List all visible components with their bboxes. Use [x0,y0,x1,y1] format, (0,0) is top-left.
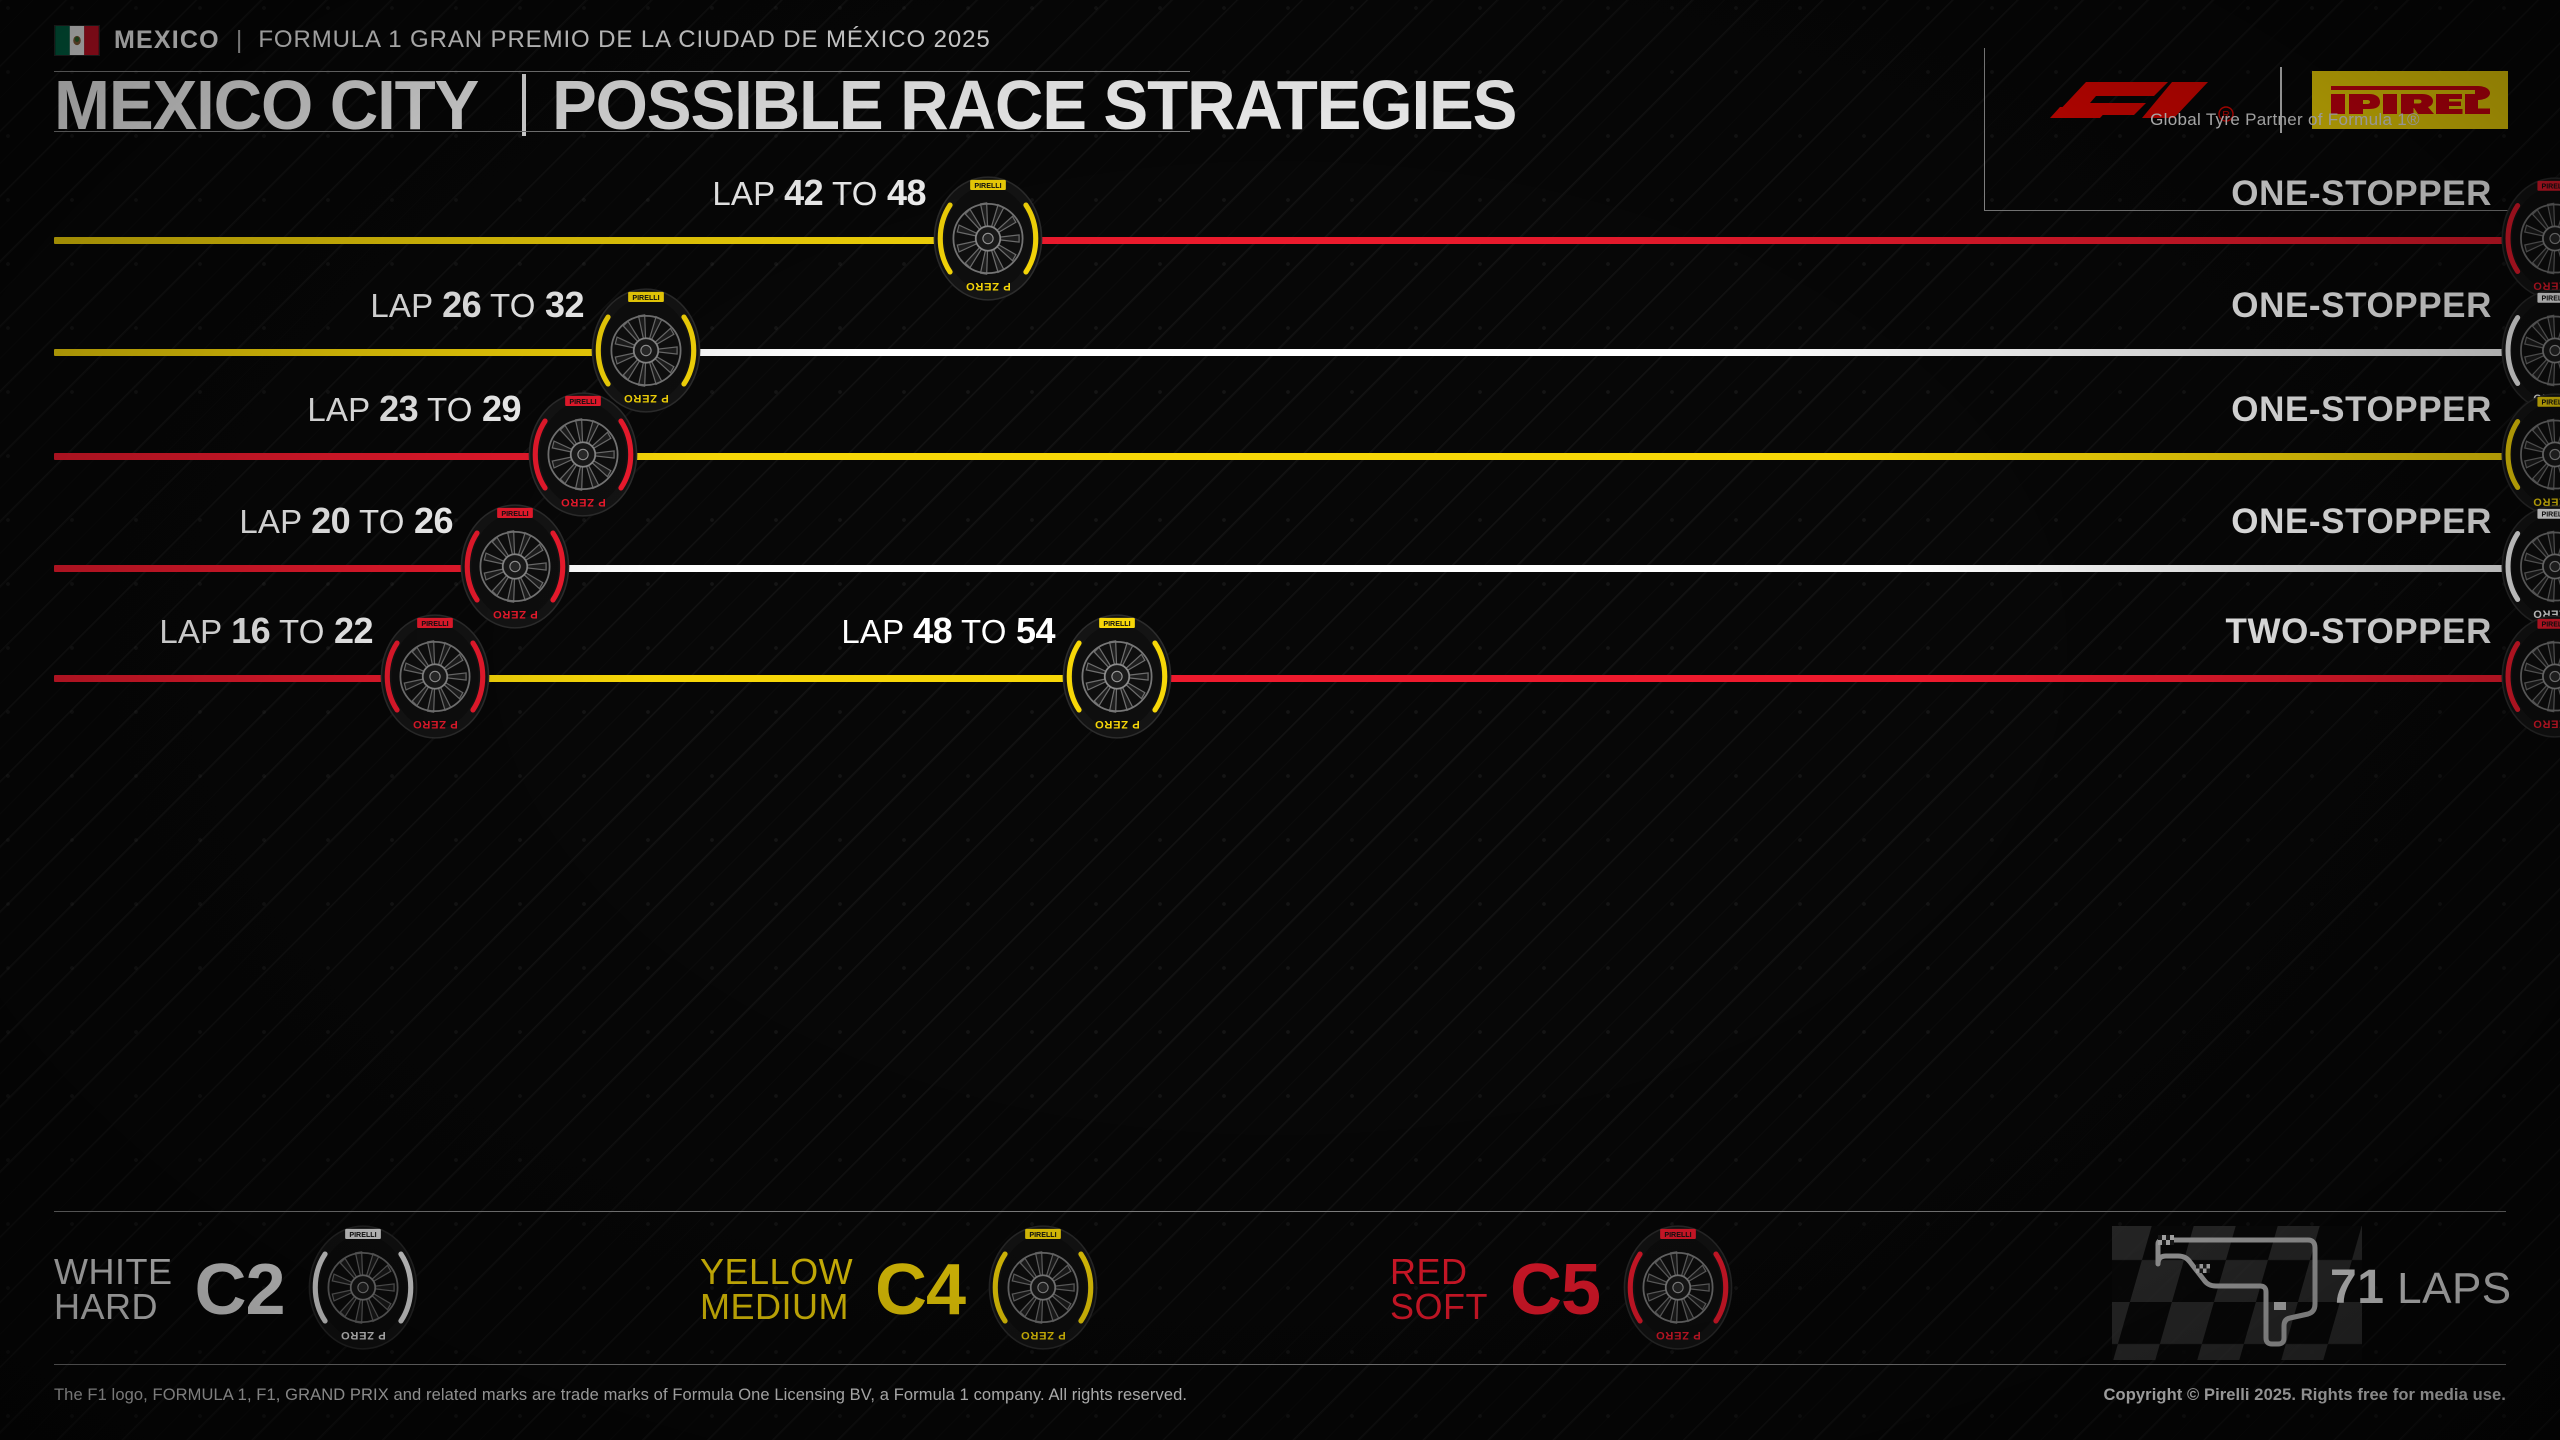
strategy-result-label: ONE-STOPPER [2231,174,2492,214]
svg-text:P ZERO: P ZERO [1094,718,1139,730]
svg-text:PIRELLI: PIRELLI [349,1231,376,1239]
lap-from: 16 [231,610,270,651]
legend-soft-color: RED [1390,1255,1488,1290]
svg-text:PIRELLI: PIRELLI [2542,295,2560,302]
pit-stop-tyre-soft: PIRELLI P ZERO [379,614,491,744]
svg-text:PIRELLI: PIRELLI [501,509,528,517]
svg-text:PIRELLI: PIRELLI [974,181,1001,189]
lap-word: LAP [307,391,369,428]
lap-to: 54 [1016,610,1055,651]
svg-text:PIRELLI: PIRELLI [1664,1231,1691,1239]
legend-medium-tyre-icon: PIRELLI P ZERO [987,1225,1099,1355]
lap-word: LAP [712,175,774,212]
svg-text:P ZERO: P ZERO [965,280,1010,292]
legend-medium-color: YELLOW [700,1255,853,1290]
laps-number: 71 [2330,1261,2384,1314]
final-tyre-hard: PIRELLI P ZERO [2500,505,2560,633]
lap-from: 20 [311,500,350,541]
lap-from: 48 [913,610,952,651]
legend-soft-name: SOFT [1390,1290,1488,1325]
footer-copyright-text: Copyright © Pirelli 2025. Rights free fo… [2104,1386,2506,1405]
laps-count: 71 LAPS [2330,1260,2512,1315]
legend-soft-tyre-icon: PIRELLI P ZERO [1622,1225,1734,1355]
final-tyre-soft: PIRELLI P ZERO [2500,177,2560,305]
pit-stop-lap-label: LAP 48 TO 54 [841,610,1055,652]
pit-stop-lap-label: LAP 23 TO 29 [307,388,521,430]
svg-text:P ZERO: P ZERO [1020,1329,1065,1341]
stint-segment-soft [54,675,435,682]
svg-text:P ZERO: P ZERO [1655,1329,1700,1341]
lap-word: LAP [370,287,432,324]
strategy-result-label: ONE-STOPPER [2231,286,2492,326]
svg-text:PIRELLI: PIRELLI [2542,399,2560,406]
svg-text:P ZERO: P ZERO [340,1329,385,1341]
final-tyre-soft: PIRELLI P ZERO [2500,615,2560,743]
footer-legal-text: The F1 logo, FORMULA 1, F1, GRAND PRIX a… [54,1386,1187,1405]
lap-to-word: TO [427,391,473,428]
lap-to: 26 [414,500,453,541]
svg-text:PIRELLI: PIRELLI [1103,619,1130,627]
legend-rule-top [54,1211,2506,1212]
legend-hard-color: WHITE [54,1255,172,1290]
legend-soft-words: RED SOFT [1390,1255,1488,1325]
lap-word: LAP [159,613,221,650]
lap-to: 48 [887,172,926,213]
svg-text:PIRELLI: PIRELLI [632,293,659,301]
lap-to-word: TO [279,613,325,650]
legend-item-soft: RED SOFT C5 PIRELLI P ZERO [1390,1248,1734,1332]
svg-text:P ZERO: P ZERO [492,608,537,620]
legend-hard-tyre-icon: PIRELLI P ZERO [307,1225,419,1355]
laps-word: LAPS [2397,1264,2512,1313]
stint-segment-medium [54,349,646,356]
lap-to: 29 [482,388,521,429]
stint-segment-soft [1117,675,2506,682]
legend-rule-bottom [54,1364,2506,1365]
pit-stop-tyre-medium: PIRELLI P ZERO [1061,614,1173,744]
svg-text:PIRELLI: PIRELLI [2542,511,2560,518]
pit-stop-lap-label: LAP 16 TO 22 [159,610,373,652]
stint-segment-medium [435,675,1117,682]
svg-text:P ZERO: P ZERO [412,718,457,730]
lap-word: LAP [239,503,301,540]
lap-to-word: TO [359,503,405,540]
legend-medium-words: YELLOW MEDIUM [700,1255,853,1325]
lap-to-word: TO [490,287,536,324]
pit-stop-tyre-medium: PIRELLI P ZERO [932,176,1044,306]
svg-text:PIRELLI: PIRELLI [2542,621,2560,628]
legend-soft-code: C5 [1510,1254,1600,1326]
lap-from: 26 [442,284,481,325]
pit-stop-tyre-soft: PIRELLI P ZERO [527,392,639,522]
legend-hard-code: C2 [194,1254,284,1326]
legend-medium-code: C4 [875,1254,965,1326]
pit-stop-lap-label: LAP 26 TO 32 [370,284,584,326]
strategy-result-label: ONE-STOPPER [2231,390,2492,430]
stint-segment-soft [54,453,583,460]
stint-segment-hard [515,565,2506,572]
lap-to: 32 [545,284,584,325]
legend-medium-name: MEDIUM [700,1290,853,1325]
stint-segment-medium [54,237,988,244]
svg-text:PIRELLI: PIRELLI [2542,183,2560,190]
stint-segment-soft [988,237,2506,244]
lap-word: LAP [841,613,903,650]
pit-stop-lap-label: LAP 20 TO 26 [239,500,453,542]
strategy-result-label: ONE-STOPPER [2231,502,2492,542]
svg-text:PIRELLI: PIRELLI [1029,1231,1056,1239]
lap-to-word: TO [832,175,878,212]
stint-segment-medium [583,453,2506,460]
final-tyre-medium: PIRELLI P ZERO [2500,393,2560,521]
legend-hard-name: HARD [54,1290,172,1325]
lap-from: 23 [379,388,418,429]
lap-to-word: TO [961,613,1007,650]
stint-segment-hard [646,349,2506,356]
svg-text:PIRELLI: PIRELLI [421,619,448,627]
svg-text:PIRELLI: PIRELLI [569,397,596,405]
legend-item-hard: WHITE HARD C2 PIRELLI P ZERO [54,1248,419,1332]
lap-from: 42 [784,172,823,213]
legend-item-medium: YELLOW MEDIUM C4 PIRELLI P ZERO [700,1248,1099,1332]
legend-hard-words: WHITE HARD [54,1255,172,1325]
lap-to: 22 [334,610,373,651]
strategy-result-label: TWO-STOPPER [2225,612,2492,652]
pit-stop-lap-label: LAP 42 TO 48 [712,172,926,214]
stint-segment-soft [54,565,515,572]
svg-text:P ZERO: P ZERO [2533,717,2560,729]
